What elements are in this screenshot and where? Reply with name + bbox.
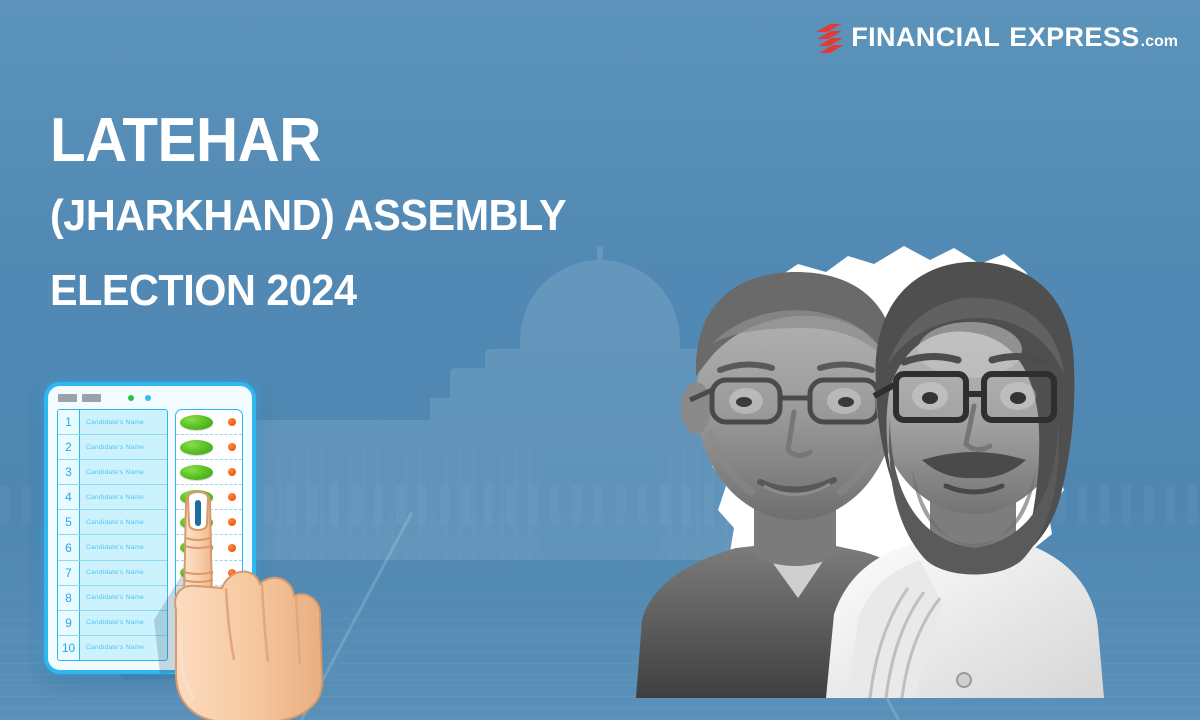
evm-candidate-name: Candidate's Name [80,444,144,451]
evm-vote-button-row[interactable] [176,410,242,435]
evm-candidate-name: Candidate's Name [80,594,144,601]
evm-candidate-name: Candidate's Name [80,569,144,576]
evm-row-number: 8 [58,586,80,610]
evm-led-green [128,395,134,401]
evm-top-bar [58,391,242,405]
financial-express-logo[interactable]: FINANCIAL EXPRESS .com [816,22,1178,53]
evm-candidate-row: 1Candidate's Name [58,410,167,435]
evm-row-number: 10 [58,636,80,660]
evm-candidate-name: Candidate's Name [80,469,144,476]
evm-row-number: 1 [58,410,80,434]
financial-express-flame-bars-icon [816,23,842,53]
evm-row-number: 6 [58,535,80,559]
logo-word-financial: FINANCIAL [851,22,1000,53]
headline-line-2: (JHARKHAND) ASSEMBLY [50,178,652,254]
evm-candidate-name: Candidate's Name [80,544,144,551]
evm-candidate-name: Candidate's Name [80,644,144,651]
headline-line-1: LATEHAR [50,104,652,178]
logo-wordmark: FINANCIAL EXPRESS .com [851,22,1178,53]
evm-row-number: 7 [58,561,80,585]
evm-candidate-row: 2Candidate's Name [58,435,167,460]
evm-row-number: 4 [58,485,80,509]
poster-canvas: FINANCIAL EXPRESS .com LATEHAR (JHARKHAN… [0,0,1200,720]
page-title: LATEHAR (JHARKHAND) ASSEMBLY ELECTION 20… [50,104,690,328]
evm-candidate-name: Candidate's Name [80,419,144,426]
evm-slot-left [58,394,77,402]
evm-candidate-name: Candidate's Name [80,494,144,501]
evm-vote-button[interactable] [180,440,213,455]
evm-slot-right [82,394,101,402]
inked-finger-nail [195,500,201,526]
evm-candidate-name: Candidate's Name [80,519,144,526]
logo-word-express: EXPRESS [1009,22,1139,53]
headline-line-3: ELECTION 2024 [50,254,652,328]
evm-vote-button[interactable] [180,415,213,430]
evm-vote-button-row[interactable] [176,435,242,460]
evm-row-number: 5 [58,510,80,534]
evm-candidate-name: Candidate's Name [80,619,144,626]
evm-row-number: 2 [58,435,80,459]
logo-dotcom-suffix: .com [1141,33,1178,51]
evm-row-number: 9 [58,611,80,635]
evm-row-number: 3 [58,460,80,484]
politician-portraits [612,168,1132,698]
evm-led-cyan [145,395,151,401]
voter-hand-pointing-icon [150,460,340,720]
evm-indicator-lamp [228,418,236,426]
evm-indicator-lamp [228,443,236,451]
